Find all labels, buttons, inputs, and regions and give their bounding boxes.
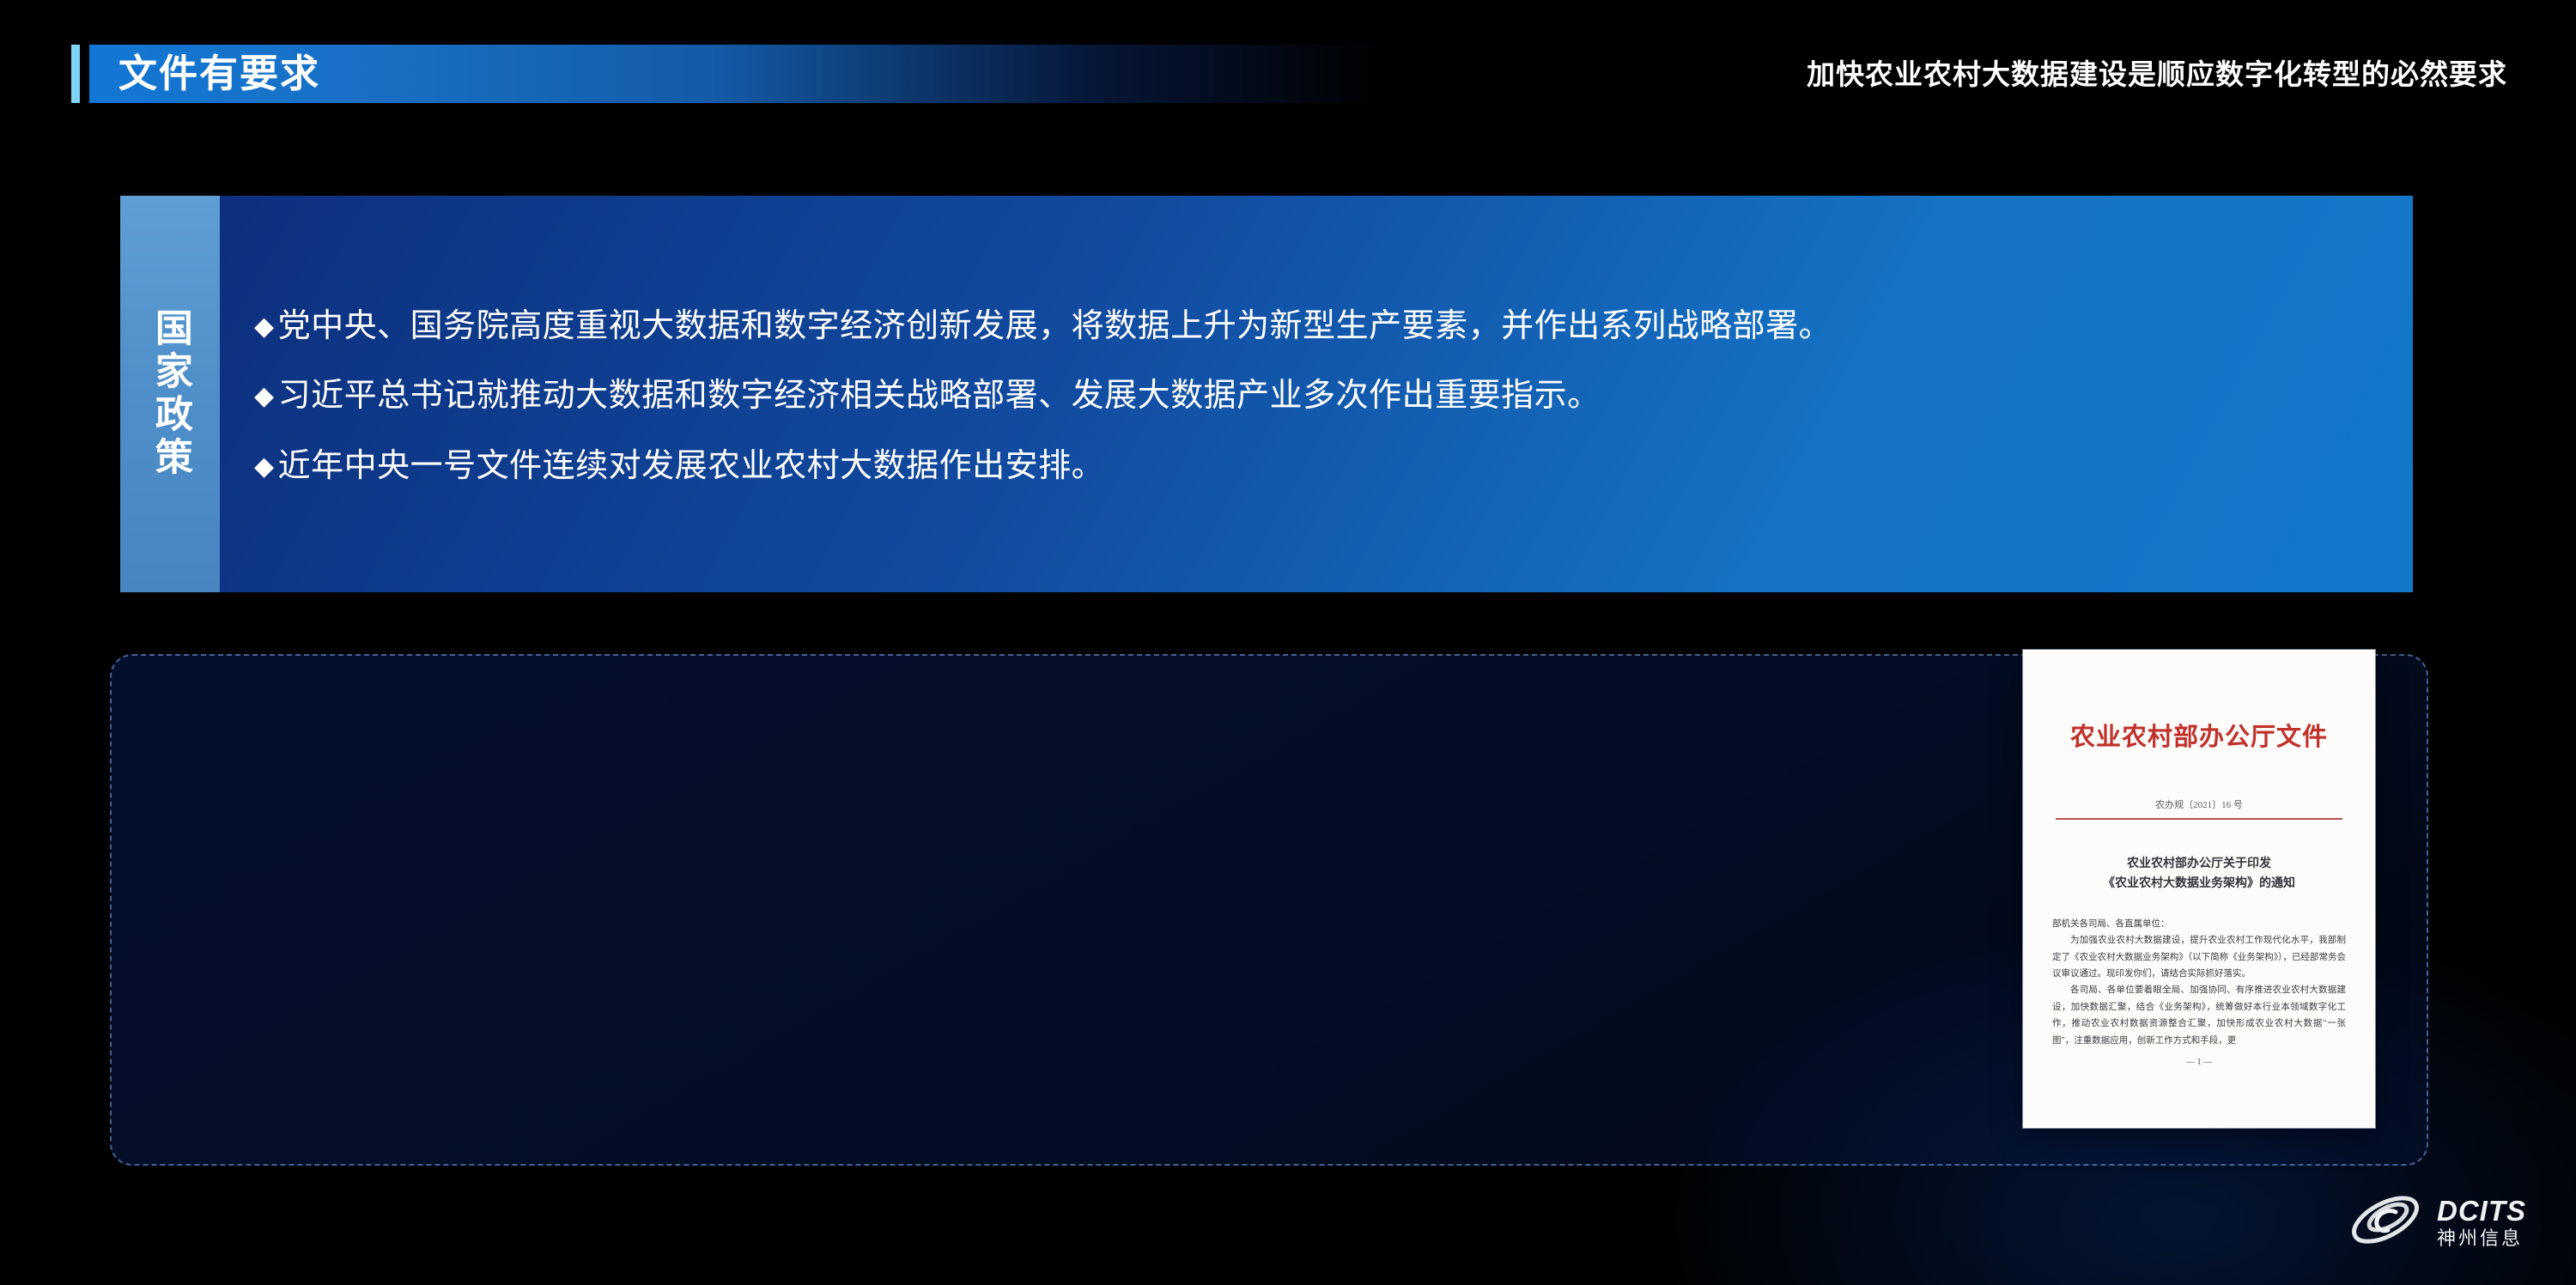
header-accent-bar: [71, 45, 80, 103]
policy-document-image[interactable]: 农业农村部办公厅文件 农办规〔2021〕16 号 农业农村部办公厅关于印发 《农…: [2023, 650, 2375, 1128]
list-item: ◆ 党中央、国务院高度重视大数据和数字经济创新发展，将数据上升为新型生产要素，并…: [254, 306, 2370, 348]
document-body: 部机关各司局、各直属单位： 为加强农业农村大数据建设，提升农业农村工作现代化水平…: [2052, 916, 2346, 1049]
brand-name-cn: 神州信息: [2437, 1229, 2526, 1248]
list-item-text: 习近平总书记就推动大数据和数字经济相关战略部署、发展大数据产业多次作出重要指示。: [278, 376, 1601, 417]
policy-bullet-list: ◆ 党中央、国务院高度重视大数据和数字经济创新发展，将数据上升为新型生产要素，并…: [220, 196, 2413, 592]
policy-tag-label: 国家政策: [147, 308, 193, 480]
document-notice-title: 农业农村部办公厅关于印发 《农业农村大数据业务架构》的通知: [2052, 854, 2346, 894]
brand-logo-text: DCITS 神州信息: [2437, 1197, 2526, 1248]
list-item-text: 党中央、国务院高度重视大数据和数字经济创新发展，将数据上升为新型生产要素，并作出…: [278, 306, 1832, 348]
list-item-text: 近年中央一号文件连续对发展农业农村大数据作出安排。: [278, 446, 1105, 488]
document-body-line-2: 为加强农业农村大数据建设，提升农业农村工作现代化水平，我部制定了《农业农村大数据…: [2052, 932, 2346, 982]
document-notice-title-line2: 《农业农村大数据业务架构》的通知: [2052, 874, 2346, 894]
document-divider: [2056, 818, 2342, 820]
slide-header: 文件有要求 加快农业农村大数据建设是顺应数字化转型的必然要求: [0, 45, 2576, 103]
document-body-line-3: 各司局、各单位要着眼全局、加强协同、有序推进农业农村大数据建设，加快数据汇聚，结…: [2052, 982, 2346, 1049]
page-title: 文件有要求: [118, 46, 320, 101]
document-notice-title-line1: 农业农村部办公厅关于印发: [2052, 854, 2346, 874]
national-policy-block: 国家政策 ◆ 党中央、国务院高度重视大数据和数字经济创新发展，将数据上升为新型生…: [120, 196, 2413, 592]
header-subtitle: 加快农业农村大数据建设是顺应数字化转型的必然要求: [1807, 50, 2507, 100]
list-item: ◆ 近年中央一号文件连续对发展农业农村大数据作出安排。: [254, 446, 2370, 488]
brand-name-en: DCITS: [2437, 1197, 2526, 1225]
diamond-bullet-icon: ◆: [254, 376, 275, 416]
document-page-number: — 1 —: [2052, 1058, 2346, 1067]
diamond-bullet-icon: ◆: [254, 446, 275, 487]
brand-logo: DCITS 神州信息: [2346, 1190, 2526, 1254]
policy-tag: 国家政策: [120, 196, 220, 592]
diamond-bullet-icon: ◆: [254, 306, 275, 347]
document-number: 农办规〔2021〕16 号: [2052, 797, 2346, 811]
slide-root: 文件有要求 加快农业农村大数据建设是顺应数字化转型的必然要求 国家政策 ◆ 党中…: [0, 0, 2576, 1285]
document-org-title: 农业农村部办公厅文件: [2052, 717, 2346, 753]
dcits-swirl-icon: [2346, 1190, 2425, 1254]
document-body-line-1: 部机关各司局、各直属单位：: [2052, 916, 2346, 932]
list-item: ◆ 习近平总书记就推动大数据和数字经济相关战略部署、发展大数据产业多次作出重要指…: [254, 376, 2370, 417]
